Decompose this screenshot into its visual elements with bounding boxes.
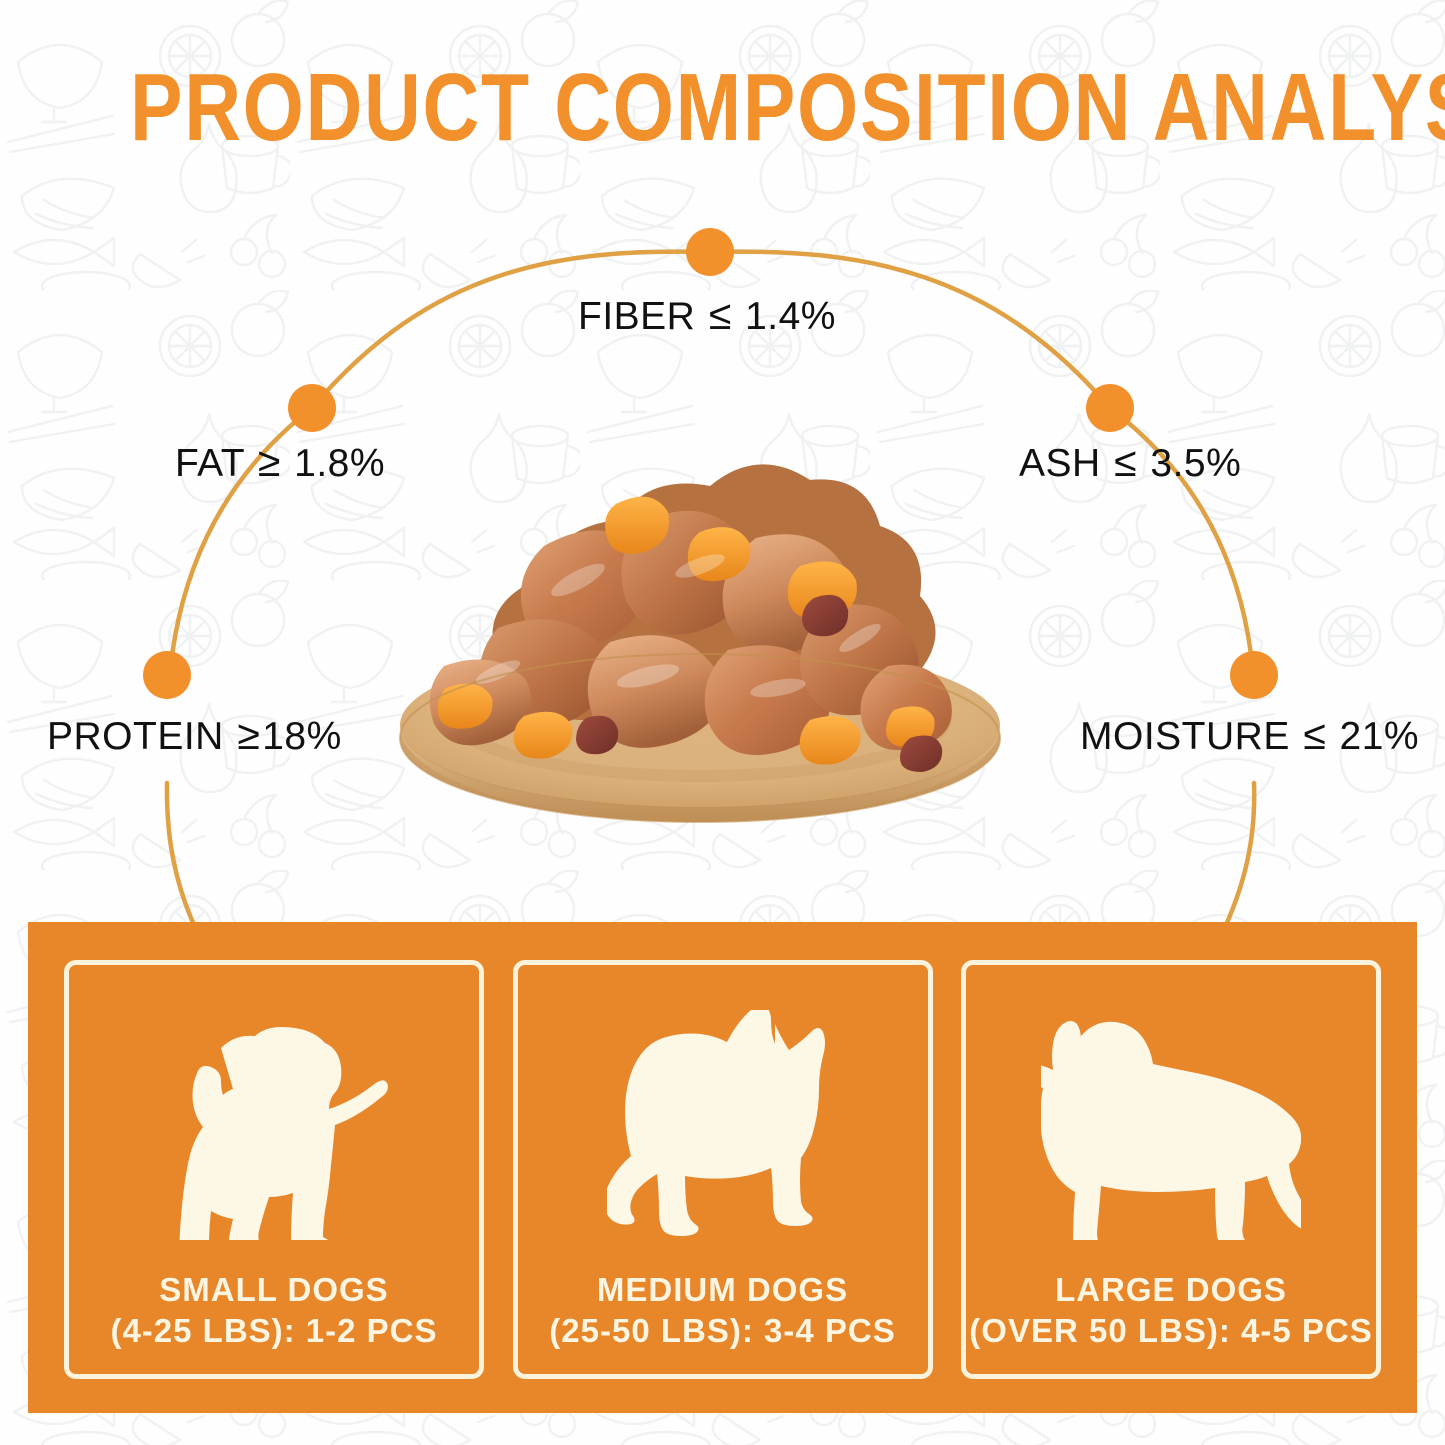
nutrient-name-moisture: MOISTURE — [1080, 715, 1290, 758]
nutrient-operator-protein: ≥ — [235, 712, 262, 758]
feeding-card-large-dogs: LARGE DOGS (OVER 50 LBS): 4-5 PCS — [961, 960, 1381, 1379]
nutrient-operator-fat: ≥ — [256, 439, 283, 485]
large-dog-serving: (OVER 50 LBS): 4-5 PCS — [969, 1310, 1372, 1352]
node-fat — [288, 384, 336, 432]
nutrient-value-protein: 18% — [262, 715, 342, 758]
node-moisture — [1230, 651, 1278, 699]
nutrient-label-ash: ASH ≤ 3.5% — [1019, 440, 1241, 486]
nutrient-label-fat: FAT ≥ 1.8% — [175, 440, 385, 486]
nutrient-operator-fiber: ≤ — [707, 292, 734, 338]
node-protein — [143, 651, 191, 699]
nutrient-name-fat: FAT — [175, 442, 244, 485]
nutrient-name-ash: ASH — [1019, 442, 1101, 485]
medium-dog-title: MEDIUM DOGS — [549, 1270, 895, 1310]
small-dog-title: SMALL DOGS — [110, 1270, 437, 1310]
small-dog-icon — [69, 965, 479, 1270]
feeding-card-medium-dogs: MEDIUM DOGS (25-50 LBS): 3-4 PCS — [513, 960, 933, 1379]
nutrient-value-ash: 3.5% — [1150, 442, 1241, 485]
medium-dog-serving: (25-50 LBS): 3-4 PCS — [549, 1310, 895, 1352]
small-dog-card-text: SMALL DOGS (4-25 LBS): 1-2 PCS — [110, 1270, 437, 1352]
feeding-guide-panel: SMALL DOGS (4-25 LBS): 1-2 PCS MEDIUM DO… — [28, 922, 1417, 1413]
infographic-page: PRODUCT COMPOSITION ANALYSIS — [0, 0, 1445, 1445]
nutrient-name-protein: PROTEIN — [47, 715, 224, 758]
nutrient-label-fiber: FIBER ≤ 1.4% — [578, 293, 836, 339]
nutrient-value-fiber: 1.4% — [745, 295, 836, 338]
nutrient-name-fiber: FIBER — [578, 295, 695, 338]
nutrient-value-moisture: 21% — [1340, 715, 1420, 758]
page-title: PRODUCT COMPOSITION ANALYSIS — [130, 56, 1315, 160]
medium-dog-card-text: MEDIUM DOGS (25-50 LBS): 3-4 PCS — [549, 1270, 895, 1352]
small-dog-serving: (4-25 LBS): 1-2 PCS — [110, 1310, 437, 1352]
nutrient-operator-moisture: ≤ — [1301, 712, 1328, 758]
medium-dog-icon — [518, 965, 928, 1270]
large-dog-icon — [966, 965, 1376, 1270]
feeding-card-small-dogs: SMALL DOGS (4-25 LBS): 1-2 PCS — [64, 960, 484, 1379]
large-dog-title: LARGE DOGS — [969, 1270, 1372, 1310]
nutrient-label-moisture: MOISTURE ≤ 21% — [1080, 713, 1419, 759]
node-fiber — [686, 228, 734, 276]
product-photo — [348, 420, 1048, 840]
nutrient-operator-ash: ≤ — [1112, 439, 1139, 485]
node-ash — [1086, 384, 1134, 432]
nutrient-label-protein: PROTEIN ≥18% — [47, 713, 342, 759]
large-dog-card-text: LARGE DOGS (OVER 50 LBS): 4-5 PCS — [969, 1270, 1372, 1352]
nutrient-value-fat: 1.8% — [294, 442, 385, 485]
